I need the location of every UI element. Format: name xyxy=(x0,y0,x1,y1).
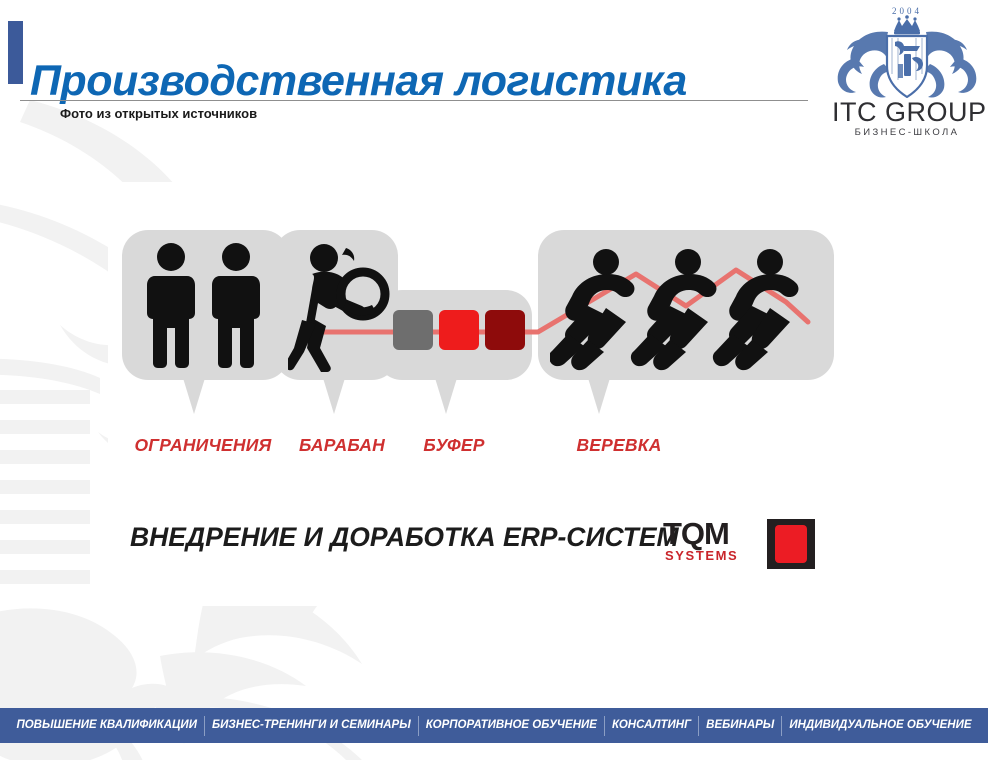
logo-wordmark: ITC GROUP xyxy=(832,98,982,126)
constraint-figures-icon xyxy=(136,240,276,372)
footer-item-5[interactable]: ИНДИВИДУАЛЬНОЕ ОБУЧЕНИЕ xyxy=(782,708,978,743)
content-photo: ОГРАНИЧЕНИЯ БАРАБАН БУФЕР ВЕРЕВКА ВНЕДРЕ… xyxy=(108,182,848,606)
header-divider xyxy=(20,100,808,101)
footer-item-4[interactable]: ВЕБИНАРЫ xyxy=(699,708,781,743)
diagram-label-rope: ВЕРЕВКА xyxy=(563,435,675,456)
diagram-label-constraints: ОГРАНИЧЕНИЯ xyxy=(128,435,278,456)
footer-item-0[interactable]: ПОВЫШЕНИЕ КВАЛИФИКАЦИИ xyxy=(9,708,204,743)
photo-credit-subtitle: Фото из открытых источников xyxy=(60,106,257,121)
brand-logo[interactable]: 2004 xyxy=(832,2,982,138)
rope-pullers-icon xyxy=(550,244,830,374)
diagram-label-drum: БАРАБАН xyxy=(286,435,398,456)
logo-tagline: БИЗНЕС-ШКОЛА xyxy=(832,126,982,140)
tqm-mark-icon xyxy=(767,519,815,569)
title-accent-bar xyxy=(8,21,23,84)
drummer-figure-icon xyxy=(288,238,396,372)
footer-item-2[interactable]: КОРПОРАТИВНОЕ ОБУЧЕНИЕ xyxy=(419,708,604,743)
erp-caption: ВНЕДРЕНИЕ И ДОРАБОТКА ERP-СИСТЕМ xyxy=(130,522,679,553)
tqm-mark-inner-square xyxy=(775,525,807,563)
footer-nav-bar: ПОВЫШЕНИЕ КВАЛИФИКАЦИИ БИЗНЕС-ТРЕНИНГИ И… xyxy=(0,708,988,743)
diagram-label-buffer: БУФЕР xyxy=(408,435,500,456)
tqm-subtext: SYSTEMS xyxy=(665,548,738,563)
buffer-block-red xyxy=(439,310,479,350)
buffer-block-darkred xyxy=(485,310,525,350)
footer-item-3[interactable]: КОНСАЛТИНГ xyxy=(605,708,698,743)
tqm-wordmark: TQM xyxy=(663,518,729,550)
tqm-systems-logo: TQM SYSTEMS xyxy=(663,518,818,574)
page-title: Производственная логистика xyxy=(30,50,687,112)
footer-item-1[interactable]: БИЗНЕС-ТРЕНИНГИ И СЕМИНАРЫ xyxy=(205,708,418,743)
heraldic-crest-icon: 2004 xyxy=(832,2,982,98)
buffer-block-gray xyxy=(393,310,433,350)
crest-year-text: 2004 xyxy=(892,6,922,16)
